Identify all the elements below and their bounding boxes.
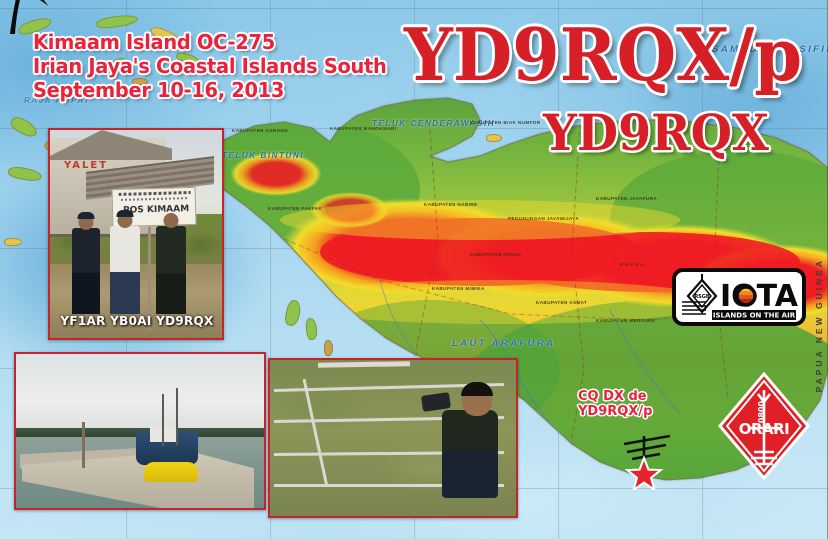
photo-antenna-assembly — [268, 358, 518, 518]
secondary-callsign: YD9RQX — [543, 107, 769, 159]
cq-dx-line-2: YD9RQX/p — [578, 404, 652, 419]
kimaam-island-marker — [614, 428, 684, 490]
sea-label-arafura: LAUT ARAFURA — [452, 338, 555, 349]
region-label: KABUPATEN MERAUKE — [596, 318, 655, 323]
region-label: PEGUNUNGAN JAYAWIJAYA — [508, 216, 579, 221]
cq-dx-block: CQ DX de YD9RQX/p — [578, 389, 652, 419]
header-line-2: Irian Jaya's Coastal Islands South — [33, 54, 387, 78]
marker-svg — [614, 428, 684, 490]
orari-logo: 0800 ORARI — [718, 372, 810, 480]
photo-jetty — [14, 352, 266, 510]
photo-operators: YALET POS KIMAAM — [48, 128, 224, 340]
signboard-line-1 — [119, 191, 191, 196]
boat-mast — [176, 388, 178, 446]
signboard-line-2 — [121, 197, 188, 201]
header-line-3: September 10-16, 2013 — [33, 78, 387, 102]
primary-callsign: YD9RQX/p — [404, 18, 802, 92]
region-label: KABUPATEN PANIAI — [470, 252, 521, 257]
region-label: KABUPATEN BIAK NUMFOR — [470, 120, 541, 125]
region-label: KABUPATEN JAYAPURA — [596, 196, 657, 201]
region-label: KABUPATEN NABIRE — [424, 202, 477, 207]
operator-figure-1 — [72, 228, 100, 314]
orari-wordmark: ORARI — [739, 420, 790, 438]
operator-figure-3 — [156, 226, 186, 314]
qsl-card: SAMUDRA PASIFIK TELUK CENDERAWASIH TELUK… — [0, 0, 828, 539]
yellow-cargo — [144, 462, 198, 482]
photo-sky — [16, 354, 264, 434]
figure-cap — [78, 212, 95, 219]
iota-logo: RSGB IOTA ISLANDS ON THE AIR — [672, 268, 806, 326]
operator-callsign-caption: YF1AR YB0AI YD9RQX — [52, 314, 222, 328]
header-block: Kimaam Island OC-275 Irian Jaya's Coasta… — [33, 30, 398, 102]
region-label: KABUPATEN ASMAT — [536, 300, 587, 305]
header-line-1: Kimaam Island OC-275 — [33, 30, 387, 54]
figure-head — [164, 213, 179, 228]
region-label: KABUPATEN MANOKWARI — [330, 126, 396, 131]
jetty-pole — [82, 422, 85, 468]
operator-figure-2 — [110, 226, 140, 314]
iota-wordmark: IOTA — [720, 279, 799, 314]
crouching-operator — [442, 410, 498, 498]
region-label: KABUPATEN SORONG — [232, 128, 288, 133]
star-icon — [627, 458, 661, 490]
region-label-papua: PAPUA — [620, 262, 646, 267]
cq-dx-line-1: CQ DX de — [578, 389, 652, 404]
country-label-papua-new-guinea: PAPUA NEW GUINEA — [814, 258, 824, 392]
island-shape — [4, 238, 22, 246]
figure-cap — [117, 210, 134, 217]
region-label: KABUPATEN MIMIKA — [432, 286, 485, 291]
svg-text:RSGB: RSGB — [694, 294, 710, 300]
boat-mast — [162, 394, 164, 446]
region-label: KABUPATEN FAKFAK — [268, 206, 322, 211]
iota-subtitle: ISLANDS ON THE AIR — [713, 312, 796, 320]
sea-label-bintuni: TELUK BINTUNI — [222, 151, 304, 160]
